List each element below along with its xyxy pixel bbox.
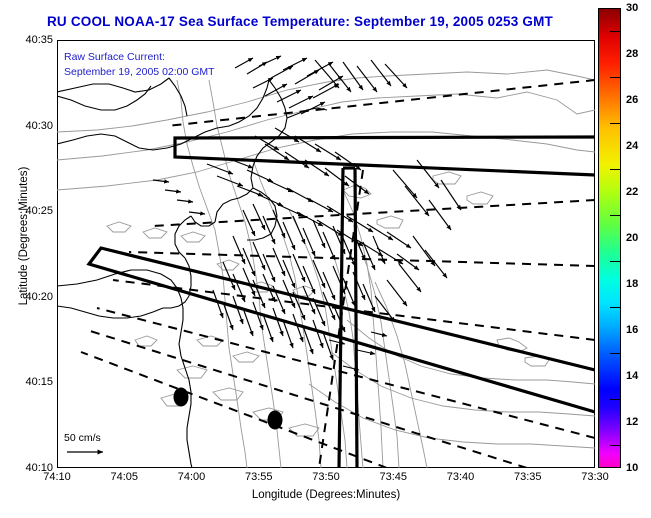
station-marker-2 [268, 411, 283, 430]
y-tick-label: 40:35 [25, 34, 53, 46]
colorbar-tick-label: 28 [626, 48, 638, 60]
surface-current-vectors [153, 56, 461, 370]
figure-title: RU COOL NOAA-17 Sea Surface Temperature:… [0, 14, 600, 29]
map-graphics [57, 40, 595, 468]
colorbar-minor-tick [610, 445, 621, 446]
colorbar-tick-label: 14 [626, 370, 638, 382]
x-tick-label: 74:05 [110, 471, 138, 483]
colorbar-tick-label: 18 [626, 278, 638, 290]
colorbar-tick-label: 20 [626, 232, 638, 244]
colorbar-tick-label: 26 [626, 94, 638, 106]
colorbar-minor-tick [610, 169, 621, 170]
x-tick-label: 73:45 [379, 471, 407, 483]
x-tick-label: 73:55 [245, 471, 273, 483]
x-tick-label: 74:00 [178, 471, 206, 483]
x-tick-label: 73:35 [514, 471, 542, 483]
x-tick-label: 73:40 [447, 471, 475, 483]
colorbar-tick-label: 22 [626, 186, 638, 198]
colorbar-tick-label: 24 [626, 140, 638, 152]
x-tick-label: 73:30 [581, 471, 609, 483]
current-annotation: Raw Surface Current: September 19, 2005 … [64, 50, 215, 80]
colorbar-minor-tick [610, 399, 621, 400]
current-annotation-line2: September 19, 2005 02:00 GMT [64, 65, 215, 80]
colorbar-minor-tick [610, 123, 621, 124]
y-axis-label: Latitude (Degrees:Minutes) [18, 126, 30, 346]
colorbar-minor-tick [610, 353, 621, 354]
colorbar-tick-label: 30 [626, 2, 638, 14]
colorbar-tick-label: 16 [626, 324, 638, 336]
colorbar-tick-label: 10 [626, 462, 638, 474]
figure-canvas: RU COOL NOAA-17 Sea Surface Temperature:… [0, 0, 651, 518]
y-tick-label: 40:10 [25, 462, 53, 474]
colorbar-minor-tick [610, 307, 621, 308]
colorbar-minor-tick [610, 261, 621, 262]
current-annotation-line1: Raw Surface Current: [64, 50, 215, 65]
sst-contour-lines [57, 70, 595, 468]
y-tick-label: 40:15 [25, 376, 53, 388]
scale-legend-label: 50 cm/s [64, 432, 101, 444]
x-axis-label: Longitude (Degrees:Minutes) [57, 489, 595, 501]
x-tick-label: 73:50 [312, 471, 340, 483]
station-marker-1 [174, 388, 189, 407]
colorbar-minor-tick [610, 215, 621, 216]
colorbar-minor-tick [610, 31, 621, 32]
colorbar-tick-label: 12 [626, 416, 638, 428]
colorbar-minor-tick [610, 77, 621, 78]
